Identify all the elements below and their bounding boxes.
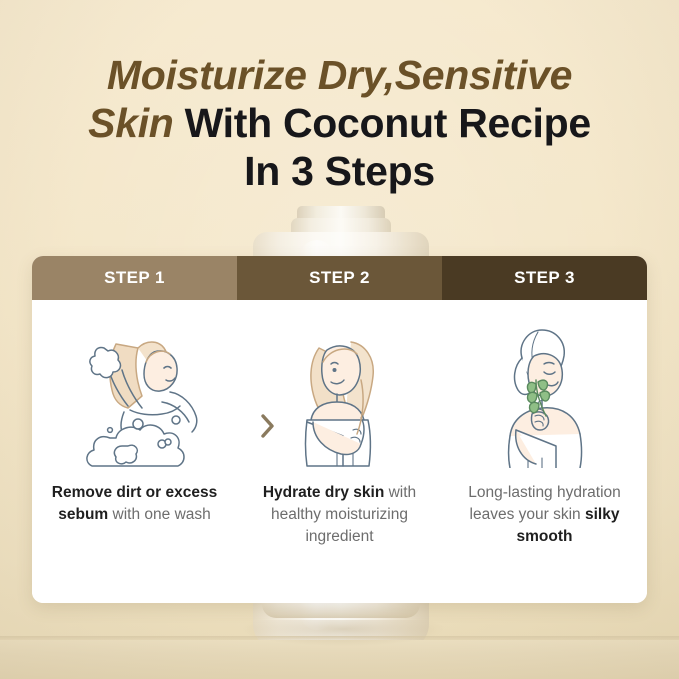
headline-line-2: Skin With Coconut Recipe — [0, 100, 679, 148]
step-header-bar: STEP 1 STEP 2 STEP 3 — [32, 256, 647, 300]
steps-body: Remove dirt or excess sebum with one was… — [32, 300, 647, 603]
step-caption-1-rest: with one wash — [108, 506, 211, 523]
woman-with-hair-towel-holding-leaf-illustration — [452, 314, 637, 472]
step-caption-2: Hydrate dry skin with healthy moisturizi… — [247, 482, 432, 548]
step-caption-1: Remove dirt or excess sebum with one was… — [42, 482, 227, 526]
step-column-3: Long-lasting hydration leaves your skin … — [442, 300, 647, 603]
headline-line-3: In 3 Steps — [0, 148, 679, 196]
step-caption-2-strong: Hydrate dry skin — [263, 484, 384, 501]
steps-card: STEP 1 STEP 2 STEP 3 — [32, 256, 647, 603]
step-column-1: Remove dirt or excess sebum with one was… — [32, 300, 237, 603]
woman-in-towel-holding-hair-illustration — [247, 314, 432, 472]
step-tab-1[interactable]: STEP 1 — [32, 256, 237, 300]
chevron-right-icon — [258, 412, 278, 440]
step-tab-2[interactable]: STEP 2 — [237, 256, 442, 300]
headline-line-3-plain: In 3 Steps — [244, 148, 435, 194]
headline-line-2-emphasis: Skin — [88, 100, 173, 146]
headline-line-1: Moisturize Dry,Sensitive — [0, 52, 679, 100]
step-caption-3: Long-lasting hydration leaves your skin … — [452, 482, 637, 548]
page-title: Moisturize Dry,Sensitive Skin With Cocon… — [0, 52, 679, 196]
step-tab-3[interactable]: STEP 3 — [442, 256, 647, 300]
woman-washing-with-foam-illustration — [42, 314, 227, 472]
headline-line-1-emphasis: Moisturize Dry,Sensitive — [107, 52, 572, 98]
step-column-2: Hydrate dry skin with healthy moisturizi… — [237, 300, 442, 603]
headline-line-2-plain: With Coconut Recipe — [174, 100, 591, 146]
